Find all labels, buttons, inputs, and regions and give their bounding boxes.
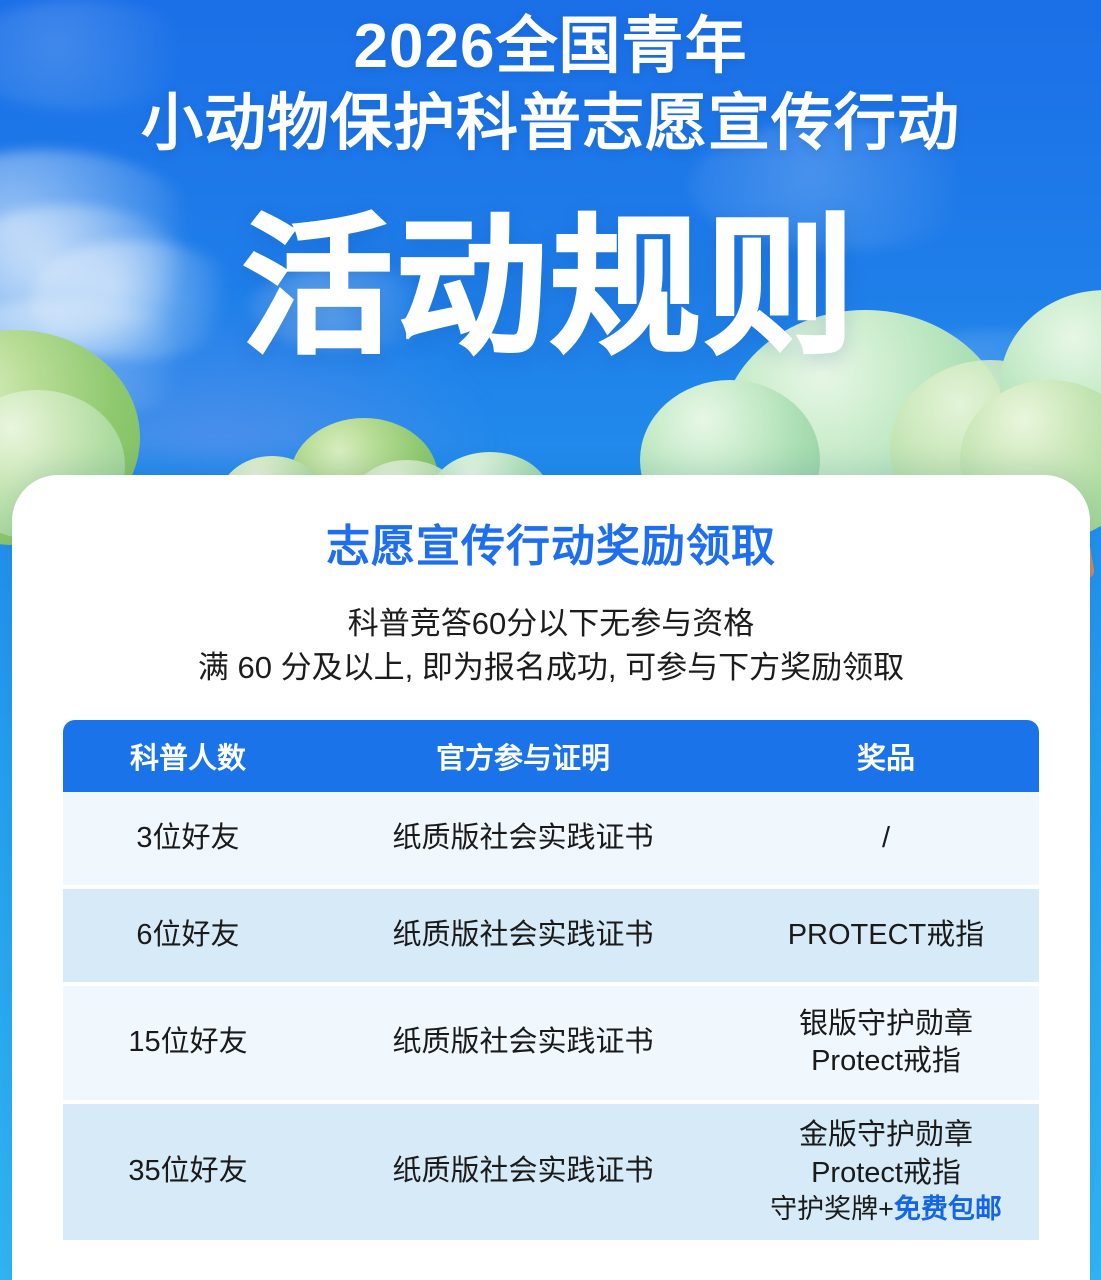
page-title: 活动规则 [0,212,1101,362]
rules-card: 志愿宣传行动奖励领取 科普竞答60分以下无参与资格 满 60 分及以上, 即为报… [12,475,1090,1280]
rewards-table: 科普人数 官方参与证明 奖品 3位好友 纸质版社会实践证书 / 6位好友 纸质版… [63,720,1039,1244]
prize-shipping-prefix: 守护奖牌+ [770,1194,894,1224]
cell-count: 6位好友 [63,917,313,954]
table-header-count: 科普人数 [63,735,313,777]
table-header-prize: 奖品 [733,735,1039,777]
prize-line: Protect戒指 [733,1155,1039,1192]
table-row: 3位好友 纸质版社会实践证书 / [63,792,1039,889]
prize-line-shipping: 守护奖牌+免费包邮 [733,1192,1039,1227]
poster-root: 2026全国青年 小动物保护科普志愿宣传行动 活动规则 志愿宣传行动奖励领取 科… [0,0,1101,1280]
cell-prize: PROTECT戒指 [733,917,1039,954]
cell-proof: 纸质版社会实践证书 [313,820,733,857]
subtitle-line-2: 满 60 分及以上, 即为报名成功, 可参与下方奖励领取 [12,646,1090,690]
subtitle-line-1: 科普竞答60分以下无参与资格 [12,602,1090,646]
table-row: 6位好友 纸质版社会实践证书 PROTECT戒指 [63,889,1039,986]
prize-line: 金版守护勋章 [733,1117,1039,1154]
cell-prize: / [733,820,1039,857]
cell-count: 15位好友 [63,1024,313,1061]
cell-proof: 纸质版社会实践证书 [313,917,733,954]
table-row: 35位好友 纸质版社会实践证书 金版守护勋章 Protect戒指 守护奖牌+免费… [63,1104,1039,1244]
table-header-proof: 官方参与证明 [313,735,733,777]
cell-prize: 银版守护勋章 Protect戒指 [733,1006,1039,1080]
prize-line: 银版守护勋章 [733,1006,1039,1043]
card-subtitle: 科普竞答60分以下无参与资格 满 60 分及以上, 即为报名成功, 可参与下方奖… [12,602,1090,690]
headline-line-1: 2026全国青年 [0,14,1101,81]
table-header-row: 科普人数 官方参与证明 奖品 [63,720,1039,792]
poster-headline: 2026全国青年 小动物保护科普志愿宣传行动 [0,14,1101,158]
cell-prize: 金版守护勋章 Protect戒指 守护奖牌+免费包邮 [733,1117,1039,1226]
table-row: 15位好友 纸质版社会实践证书 银版守护勋章 Protect戒指 [63,986,1039,1104]
prize-line: Protect戒指 [733,1043,1039,1080]
cell-count: 3位好友 [63,820,313,857]
headline-line-2: 小动物保护科普志愿宣传行动 [0,91,1101,158]
cell-count: 35位好友 [63,1153,313,1190]
cell-proof: 纸质版社会实践证书 [313,1024,733,1061]
cell-proof: 纸质版社会实践证书 [313,1153,733,1190]
prize-line: / [733,820,1039,857]
card-title: 志愿宣传行动奖励领取 [12,521,1090,574]
free-shipping-badge: 免费包邮 [894,1194,1002,1224]
prize-line: PROTECT戒指 [733,917,1039,954]
